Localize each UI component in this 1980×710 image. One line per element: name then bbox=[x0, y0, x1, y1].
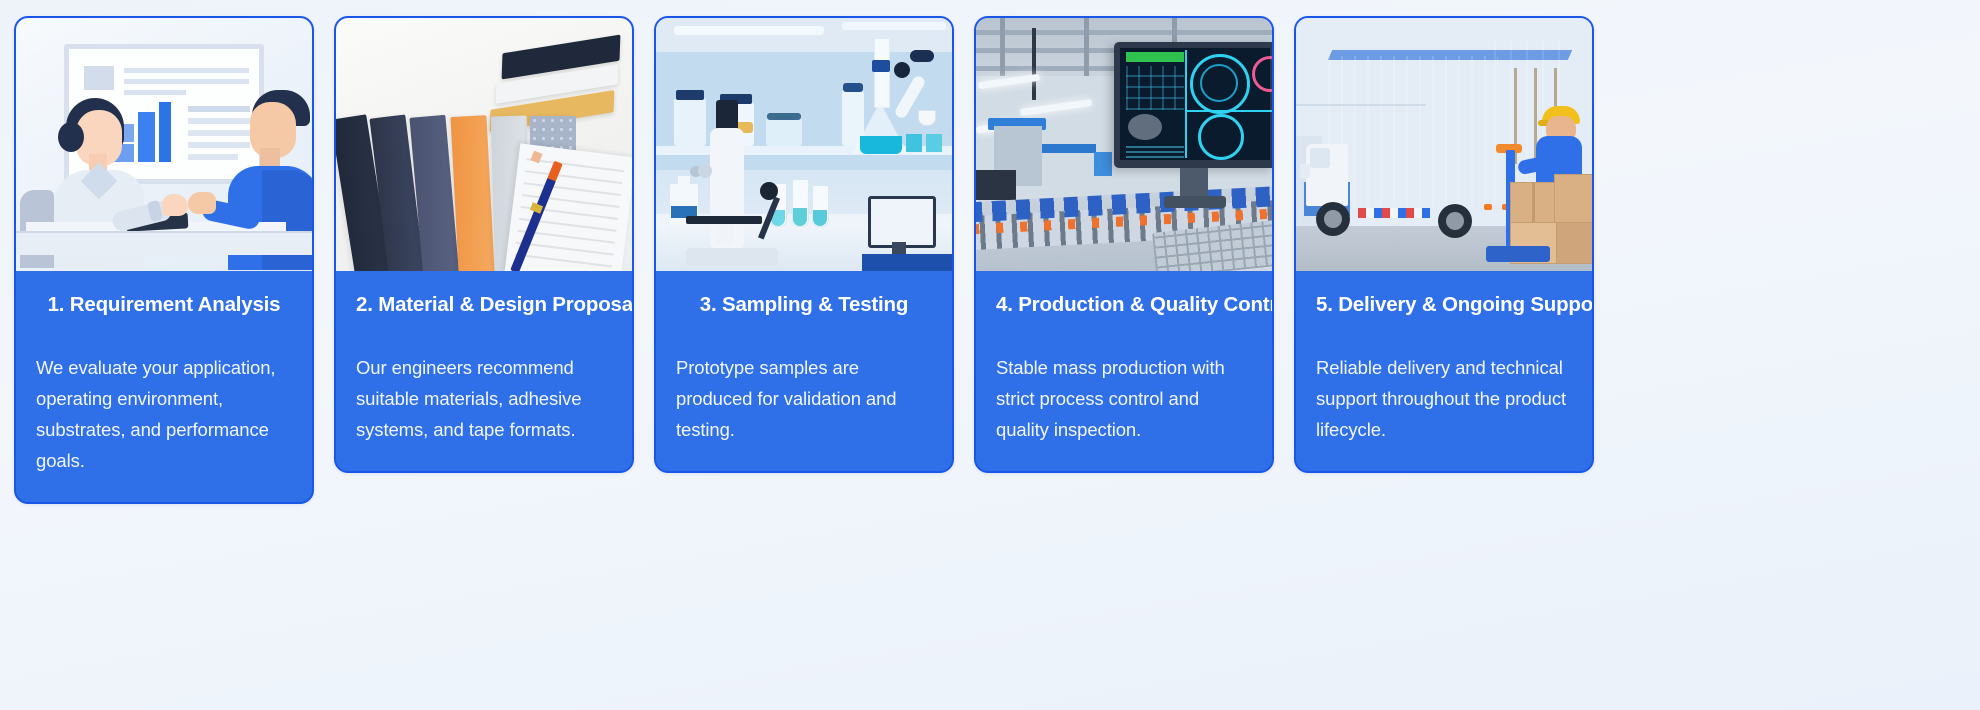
card-body-4: 4. Production & Quality Control Stable m… bbox=[976, 271, 1272, 471]
delivery-truck-warehouse-photo bbox=[1296, 18, 1592, 271]
step-title: 3. Sampling & Testing bbox=[676, 293, 932, 318]
material-swatches-photo bbox=[336, 18, 632, 271]
step-description: Prototype samples are produced for valid… bbox=[676, 352, 932, 445]
step-card-4[interactable]: 4. Production & Quality Control Stable m… bbox=[974, 16, 1274, 473]
step-card-1[interactable]: 1. Requirement Analysis We evaluate your… bbox=[14, 16, 314, 504]
step-description: We evaluate your application, operating … bbox=[36, 352, 292, 476]
requirement-analysis-illustration bbox=[16, 18, 312, 271]
card-body-1: 1. Requirement Analysis We evaluate your… bbox=[16, 271, 312, 502]
step-description: Our engineers recommend suitable materia… bbox=[356, 352, 612, 445]
step-title: 2. Material & Design Proposal bbox=[356, 293, 612, 318]
step-description: Stable mass production with strict proce… bbox=[996, 352, 1252, 445]
step-card-2[interactable]: 2. Material & Design Proposal Our engine… bbox=[334, 16, 634, 473]
step-card-5[interactable]: 5. Delivery & Ongoing Support Reliable d… bbox=[1294, 16, 1594, 473]
step-title: 5. Delivery & Ongoing Support bbox=[1316, 293, 1572, 318]
process-steps-row: 1. Requirement Analysis We evaluate your… bbox=[0, 0, 1980, 710]
card-body-2: 2. Material & Design Proposal Our engine… bbox=[336, 271, 632, 471]
step-card-3[interactable]: 3. Sampling & Testing Prototype samples … bbox=[654, 16, 954, 473]
step-title: 4. Production & Quality Control bbox=[996, 293, 1252, 318]
step-title: 1. Requirement Analysis bbox=[36, 293, 292, 318]
laboratory-microscope-photo bbox=[656, 18, 952, 271]
step-description: Reliable delivery and technical support … bbox=[1316, 352, 1572, 445]
card-body-5: 5. Delivery & Ongoing Support Reliable d… bbox=[1296, 271, 1592, 471]
factory-monitor-conveyor-photo bbox=[976, 18, 1272, 271]
card-body-3: 3. Sampling & Testing Prototype samples … bbox=[656, 271, 952, 471]
